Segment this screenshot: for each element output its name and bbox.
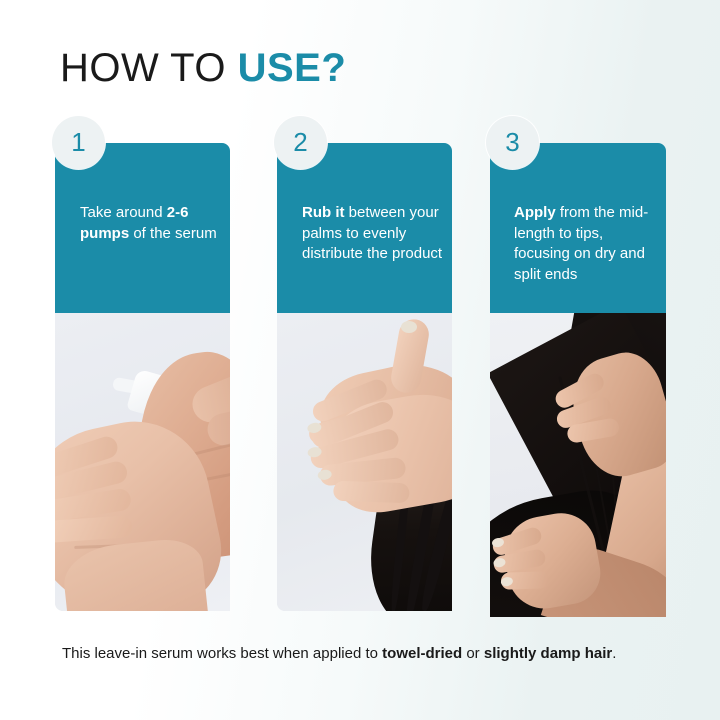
how-to-use-infographic: HOW TO USE? 1 Take around 2-6 pumps of t… <box>0 0 720 720</box>
step-3-text: Apply from the mid-length to tips, focus… <box>514 203 662 285</box>
step-2-photo <box>277 313 452 611</box>
footer-part-2: towel-dried <box>382 645 462 662</box>
step-2-text-part-1: Rub it <box>302 204 349 221</box>
step-1-text-part-1: Take around <box>80 204 167 221</box>
step-1-text-part-3: of the serum <box>133 225 216 242</box>
steps-row: 1 Take around 2-6 pumps of the serum <box>0 0 720 720</box>
step-1-text: Take around 2-6 pumps of the serum <box>80 203 222 244</box>
step-2-number-badge: 2 <box>274 116 327 169</box>
step-2-text: Rub it between your palms to evenly dist… <box>302 203 444 265</box>
step-card-1: 1 Take around 2-6 pumps of the serum <box>55 143 230 611</box>
step-3-number-badge: 3 <box>486 116 539 169</box>
footer-part-1: This leave-in serum works best when appl… <box>62 645 382 662</box>
step-1-panel: 1 Take around 2-6 pumps of the serum <box>55 143 230 313</box>
footer-part-3: or <box>462 645 484 662</box>
footer-part-5: . <box>612 645 616 662</box>
step-1-number-badge: 1 <box>52 116 105 169</box>
step-1-photo <box>55 313 230 611</box>
step-3-text-part-1: Apply <box>514 204 560 221</box>
step-3-panel: 3 Apply from the mid-length to tips, foc… <box>490 143 666 313</box>
step-card-2: 2 Rub it between your palms to evenly di… <box>277 143 452 611</box>
footer-note: This leave-in serum works best when appl… <box>62 644 662 664</box>
footer-part-4: slightly damp hair <box>484 645 612 662</box>
step-3-photo <box>490 313 666 617</box>
step-card-3: 3 Apply from the mid-length to tips, foc… <box>490 143 666 617</box>
step-2-panel: 2 Rub it between your palms to evenly di… <box>277 143 452 313</box>
